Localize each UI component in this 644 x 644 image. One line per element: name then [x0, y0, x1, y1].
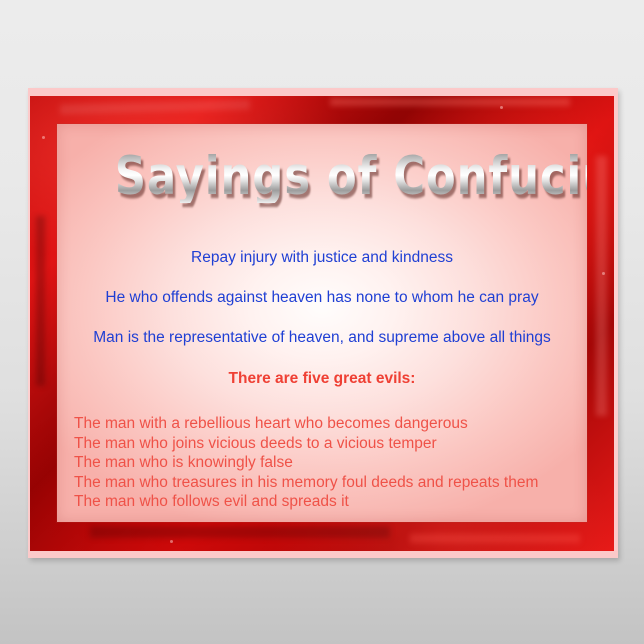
- frame-speck: [170, 540, 173, 543]
- quote-line-3: Man is the representative of heaven, and…: [57, 329, 587, 347]
- list-item: The man who treasures in his memory foul…: [74, 473, 584, 493]
- poster-frame: Sayings of Confucius Repay injury with j…: [30, 96, 614, 551]
- frame-marble-streak: [410, 534, 580, 543]
- page-backdrop: Sayings of Confucius Repay injury with j…: [0, 0, 644, 644]
- list-item: The man who follows evil and spreads it: [74, 492, 584, 512]
- frame-marble-streak: [596, 156, 607, 416]
- poster-title-container: Sayings of Confucius: [57, 150, 587, 203]
- frame-speck: [602, 272, 605, 275]
- page-title: Sayings of Confucius: [115, 150, 587, 203]
- evils-heading: There are five great evils:: [57, 370, 587, 388]
- frame-marble-streak: [90, 526, 390, 538]
- poster: Sayings of Confucius Repay injury with j…: [28, 88, 618, 558]
- poster-content-panel: Sayings of Confucius Repay injury with j…: [57, 124, 587, 522]
- evils-list: The man with a rebellious heart who beco…: [74, 414, 584, 512]
- list-item: The man who joins vicious deeds to a vic…: [74, 434, 584, 454]
- quote-line-2: He who offends against heaven has none t…: [57, 289, 587, 307]
- frame-marble-streak: [330, 98, 570, 106]
- list-item: The man with a rebellious heart who beco…: [74, 414, 584, 434]
- frame-speck: [42, 136, 45, 139]
- quote-line-1: Repay injury with justice and kindness: [57, 249, 587, 267]
- frame-speck: [500, 106, 503, 109]
- frame-marble-streak: [60, 100, 250, 115]
- list-item: The man who is knowingly false: [74, 453, 584, 473]
- frame-marble-streak: [36, 216, 45, 386]
